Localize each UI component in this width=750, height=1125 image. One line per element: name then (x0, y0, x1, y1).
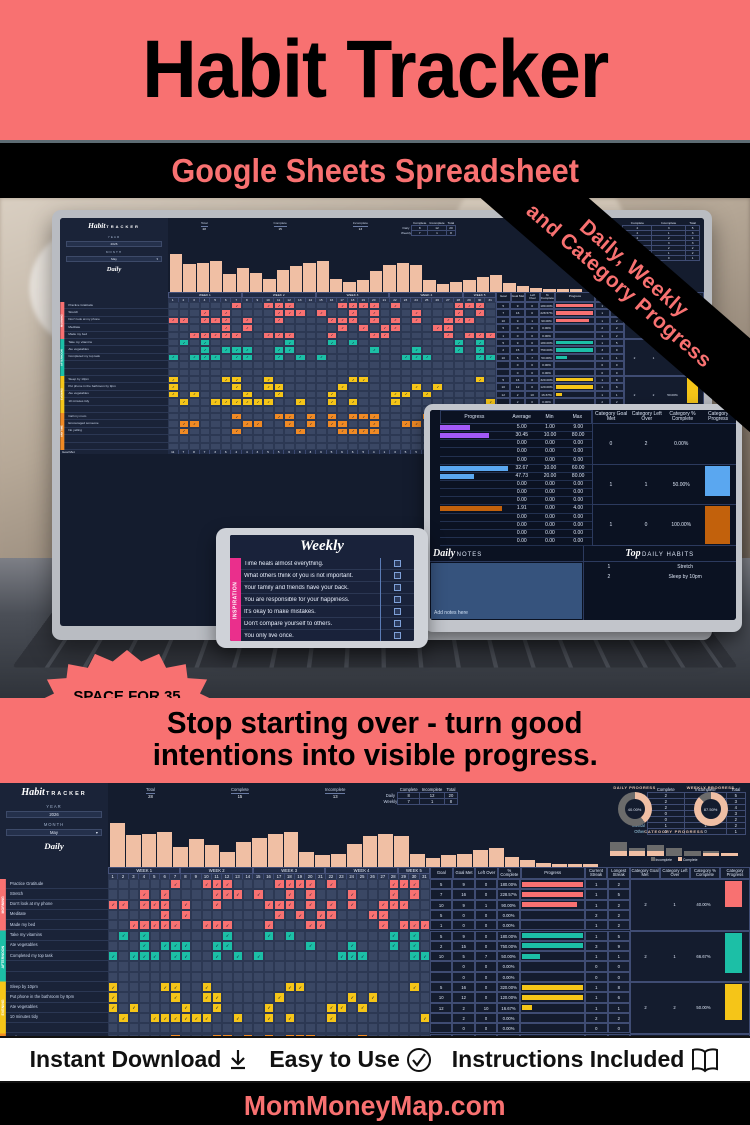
habit-checkbox[interactable] (357, 982, 367, 992)
habit-checkbox[interactable] (326, 900, 336, 910)
habit-checkbox[interactable] (242, 413, 253, 420)
habit-checkbox[interactable] (357, 1013, 367, 1023)
habit-checkbox[interactable] (242, 346, 253, 353)
habit-checkbox[interactable] (432, 302, 443, 309)
habit-checkbox[interactable] (368, 992, 378, 1002)
habit-checkbox[interactable] (108, 900, 118, 910)
habit-checkbox[interactable] (443, 339, 454, 346)
habit-checkbox[interactable] (170, 972, 180, 982)
habit-checkbox[interactable] (285, 951, 295, 961)
habit-checkbox[interactable] (242, 302, 253, 309)
habit-checkbox[interactable] (420, 920, 430, 930)
habit-checkbox[interactable] (357, 951, 367, 961)
habit-checkbox[interactable] (369, 324, 380, 331)
habit-checkbox[interactable] (369, 435, 380, 442)
habit-checkbox[interactable] (316, 443, 327, 450)
habit-checkbox[interactable] (243, 1034, 253, 1037)
habit-checkbox[interactable] (233, 1003, 243, 1013)
habit-checkbox[interactable] (411, 406, 422, 413)
habit-checkbox[interactable] (263, 324, 274, 331)
habit-checkbox[interactable] (337, 941, 347, 951)
habit-checkbox[interactable] (316, 1003, 326, 1013)
habit-checkbox[interactable] (129, 982, 139, 992)
habit-checkbox[interactable] (378, 941, 388, 951)
habit-checkbox[interactable] (485, 376, 496, 383)
habit-checkbox[interactable] (274, 941, 284, 951)
habit-checkbox[interactable] (242, 317, 253, 324)
habit-checkbox[interactable] (295, 324, 306, 331)
habit-checkbox[interactable] (170, 900, 180, 910)
habit-checkbox[interactable] (347, 951, 357, 961)
habit-checkbox[interactable] (390, 302, 401, 309)
habit-checkbox[interactable] (263, 354, 274, 361)
habit-checkbox[interactable] (401, 317, 412, 324)
habit-checkbox[interactable] (399, 900, 409, 910)
habit-checkbox[interactable] (231, 413, 242, 420)
habit-checkbox[interactable] (454, 383, 465, 390)
habit-checkbox[interactable] (316, 972, 326, 982)
habit-checkbox[interactable] (305, 992, 315, 1002)
habit-checkbox[interactable] (139, 982, 149, 992)
habit-checkbox[interactable] (357, 931, 367, 941)
habit-checkbox[interactable] (200, 406, 211, 413)
habit-checkbox[interactable] (181, 961, 191, 971)
habit-checkbox[interactable] (411, 339, 422, 346)
habit-checkbox[interactable] (118, 1013, 128, 1023)
habit-checkbox[interactable] (411, 332, 422, 339)
habit-checkbox[interactable] (253, 931, 263, 941)
habit-checkbox[interactable] (168, 443, 179, 450)
habit-checkbox[interactable] (348, 383, 359, 390)
habit-checkbox[interactable] (306, 435, 317, 442)
habit-checkbox[interactable] (212, 941, 222, 951)
habit-checkbox[interactable] (420, 982, 430, 992)
habit-checkbox[interactable] (306, 354, 317, 361)
habit-checkbox[interactable] (118, 879, 128, 889)
habit-checkbox[interactable] (231, 324, 242, 331)
habit-checkbox[interactable] (380, 324, 391, 331)
habit-checkbox[interactable] (263, 435, 274, 442)
habit-checkbox[interactable] (369, 309, 380, 316)
habit-checkbox[interactable] (369, 383, 380, 390)
habit-checkbox[interactable] (420, 1003, 430, 1013)
habit-checkbox[interactable] (485, 332, 496, 339)
habit-checkbox[interactable] (305, 1023, 315, 1033)
year-value[interactable]: 2026 (6, 811, 102, 818)
habit-checkbox[interactable] (401, 398, 412, 405)
habit-checkbox[interactable] (337, 1013, 347, 1023)
habit-checkbox[interactable] (168, 420, 179, 427)
habit-checkbox[interactable] (233, 900, 243, 910)
habit-checkbox[interactable] (118, 931, 128, 941)
habit-checkbox[interactable] (306, 391, 317, 398)
habit-checkbox[interactable] (160, 900, 170, 910)
habit-checkbox[interactable] (443, 324, 454, 331)
habit-checkbox[interactable] (168, 361, 179, 368)
habit-checkbox[interactable] (443, 354, 454, 361)
habit-checkbox[interactable] (326, 910, 336, 920)
habit-checkbox[interactable] (202, 920, 212, 930)
habit-checkbox[interactable] (108, 1003, 118, 1013)
habit-checkbox[interactable] (454, 369, 465, 376)
habit-checkbox[interactable] (129, 1003, 139, 1013)
habit-checkbox[interactable] (422, 309, 433, 316)
habit-checkbox[interactable] (337, 413, 348, 420)
habit-checkbox[interactable] (231, 420, 242, 427)
habit-checkbox[interactable] (358, 420, 369, 427)
habit-checkbox[interactable] (316, 1023, 326, 1033)
habit-checkbox[interactable] (306, 413, 317, 420)
habit-checkbox[interactable] (139, 889, 149, 899)
habit-checkbox[interactable] (378, 961, 388, 971)
habit-checkbox[interactable] (316, 982, 326, 992)
habit-checkbox[interactable] (389, 879, 399, 889)
habit-checkbox[interactable] (358, 406, 369, 413)
habit-checkbox[interactable] (150, 1003, 160, 1013)
habit-checkbox[interactable] (380, 309, 391, 316)
habit-checkbox[interactable] (409, 982, 419, 992)
habit-checkbox[interactable] (243, 992, 253, 1002)
habit-checkbox[interactable] (348, 443, 359, 450)
habit-checkbox[interactable] (202, 931, 212, 941)
habit-checkbox[interactable] (222, 910, 232, 920)
habit-checkbox[interactable] (337, 435, 348, 442)
habit-checkbox[interactable] (253, 406, 264, 413)
habit-checkbox[interactable] (202, 972, 212, 982)
weekly-checkbox[interactable] (394, 572, 401, 579)
habit-checkbox[interactable] (337, 339, 348, 346)
habit-checkbox[interactable] (316, 420, 327, 427)
habit-checkbox[interactable] (202, 889, 212, 899)
habit-checkbox[interactable] (357, 879, 367, 889)
habit-checkbox[interactable] (253, 302, 264, 309)
habit-checkbox[interactable] (168, 302, 179, 309)
habit-checkbox[interactable] (191, 1023, 201, 1033)
habit-checkbox[interactable] (242, 369, 253, 376)
habit-checkbox[interactable] (189, 391, 200, 398)
habit-checkbox[interactable] (253, 941, 263, 951)
habit-checkbox[interactable] (420, 992, 430, 1002)
habit-checkbox[interactable] (189, 398, 200, 405)
habit-checkbox[interactable] (420, 1023, 430, 1033)
habit-checkbox[interactable] (210, 302, 221, 309)
habit-checkbox[interactable] (401, 428, 412, 435)
habit-checkbox[interactable] (150, 982, 160, 992)
habit-checkbox[interactable] (316, 346, 327, 353)
habit-checkbox[interactable] (401, 346, 412, 353)
habit-checkbox[interactable] (212, 889, 222, 899)
habit-checkbox[interactable] (222, 1013, 232, 1023)
habit-checkbox[interactable] (305, 951, 315, 961)
habit-checkbox[interactable] (150, 889, 160, 899)
habit-checkbox[interactable] (139, 972, 149, 982)
habit-checkbox[interactable] (390, 435, 401, 442)
habit-checkbox[interactable] (443, 302, 454, 309)
habit-checkbox[interactable] (305, 1013, 315, 1023)
habit-checkbox[interactable] (253, 1003, 263, 1013)
habit-checkbox[interactable] (337, 302, 348, 309)
habit-checkbox[interactable] (263, 406, 274, 413)
habit-checkbox[interactable] (399, 951, 409, 961)
habit-checkbox[interactable] (390, 406, 401, 413)
habit-checkbox[interactable] (464, 302, 475, 309)
habit-checkbox[interactable] (422, 339, 433, 346)
habit-checkbox[interactable] (139, 941, 149, 951)
habit-checkbox[interactable] (337, 1003, 347, 1013)
habit-checkbox[interactable] (316, 900, 326, 910)
habit-checkbox[interactable] (389, 1023, 399, 1033)
habit-checkbox[interactable] (242, 309, 253, 316)
habit-checkbox[interactable] (264, 972, 274, 982)
habit-checkbox[interactable] (316, 317, 327, 324)
habit-checkbox[interactable] (181, 1023, 191, 1033)
habit-checkbox[interactable] (409, 900, 419, 910)
habit-checkbox[interactable] (264, 879, 274, 889)
habit-checkbox[interactable] (284, 435, 295, 442)
habit-checkbox[interactable] (316, 302, 327, 309)
habit-checkbox[interactable] (118, 1003, 128, 1013)
habit-checkbox[interactable] (200, 398, 211, 405)
habit-checkbox[interactable] (411, 383, 422, 390)
habit-checkbox[interactable] (422, 383, 433, 390)
habit-checkbox[interactable] (327, 406, 338, 413)
habit-checkbox[interactable] (316, 309, 327, 316)
habit-checkbox[interactable] (253, 435, 264, 442)
habit-checkbox[interactable] (253, 428, 264, 435)
habit-checkbox[interactable] (222, 972, 232, 982)
habit-checkbox[interactable] (306, 376, 317, 383)
habit-checkbox[interactable] (368, 1034, 378, 1037)
habit-checkbox[interactable] (357, 1023, 367, 1033)
habit-checkbox[interactable] (316, 369, 327, 376)
habit-checkbox[interactable] (358, 383, 369, 390)
habit-checkbox[interactable] (358, 391, 369, 398)
habit-checkbox[interactable] (337, 879, 347, 889)
habit-checkbox[interactable] (210, 376, 221, 383)
habit-checkbox[interactable] (243, 982, 253, 992)
habit-checkbox[interactable] (380, 376, 391, 383)
habit-checkbox[interactable] (401, 413, 412, 420)
habit-checkbox[interactable] (253, 332, 264, 339)
habit-checkbox[interactable] (150, 900, 160, 910)
habit-checkbox[interactable] (378, 1013, 388, 1023)
habit-checkbox[interactable] (243, 961, 253, 971)
habit-checkbox[interactable] (348, 435, 359, 442)
habit-checkbox[interactable] (243, 951, 253, 961)
habit-checkbox[interactable] (179, 383, 190, 390)
habit-checkbox[interactable] (263, 413, 274, 420)
habit-checkbox[interactable] (380, 398, 391, 405)
habit-checkbox[interactable] (390, 391, 401, 398)
habit-checkbox[interactable] (221, 339, 232, 346)
habit-checkbox[interactable] (389, 900, 399, 910)
habit-checkbox[interactable] (454, 361, 465, 368)
habit-checkbox[interactable] (191, 951, 201, 961)
habit-checkbox[interactable] (411, 376, 422, 383)
habit-checkbox[interactable] (347, 889, 357, 899)
habit-checkbox[interactable] (380, 383, 391, 390)
habit-checkbox[interactable] (274, 1023, 284, 1033)
habit-checkbox[interactable] (191, 961, 201, 971)
habit-checkbox[interactable] (409, 972, 419, 982)
habit-checkbox[interactable] (181, 1034, 191, 1037)
habit-checkbox[interactable] (150, 910, 160, 920)
weekly-checkbox[interactable] (394, 620, 401, 627)
habit-checkbox[interactable] (189, 428, 200, 435)
habit-checkbox[interactable] (274, 931, 284, 941)
habit-checkbox[interactable] (200, 420, 211, 427)
habit-checkbox[interactable] (475, 324, 486, 331)
habit-checkbox[interactable] (264, 1023, 274, 1033)
habit-checkbox[interactable] (179, 420, 190, 427)
habit-checkbox[interactable] (485, 383, 496, 390)
habit-checkbox[interactable] (200, 324, 211, 331)
habit-checkbox[interactable] (210, 354, 221, 361)
habit-checkbox[interactable] (295, 951, 305, 961)
habit-checkbox[interactable] (285, 900, 295, 910)
habit-checkbox[interactable] (411, 443, 422, 450)
habit-checkbox[interactable] (475, 383, 486, 390)
habit-checkbox[interactable] (401, 443, 412, 450)
habit-checkbox[interactable] (202, 1034, 212, 1037)
habit-checkbox[interactable] (118, 910, 128, 920)
habit-checkbox[interactable] (191, 1003, 201, 1013)
habit-checkbox[interactable] (285, 972, 295, 982)
habit-checkbox[interactable] (348, 376, 359, 383)
habit-checkbox[interactable] (139, 1034, 149, 1037)
habit-checkbox[interactable] (108, 1034, 118, 1037)
habit-checkbox[interactable] (263, 317, 274, 324)
habit-checkbox[interactable] (181, 889, 191, 899)
habit-checkbox[interactable] (108, 972, 118, 982)
habit-checkbox[interactable] (326, 961, 336, 971)
habit-checkbox[interactable] (368, 951, 378, 961)
habit-checkbox[interactable] (181, 1003, 191, 1013)
habit-checkbox[interactable] (327, 361, 338, 368)
habit-checkbox[interactable] (274, 339, 285, 346)
habit-checkbox[interactable] (253, 992, 263, 1002)
habit-checkbox[interactable] (316, 435, 327, 442)
habit-checkbox[interactable] (305, 972, 315, 982)
habit-checkbox[interactable] (380, 354, 391, 361)
habit-checkbox[interactable] (160, 1023, 170, 1033)
habit-checkbox[interactable] (422, 376, 433, 383)
habit-checkbox[interactable] (348, 413, 359, 420)
habit-checkbox[interactable] (368, 900, 378, 910)
habit-checkbox[interactable] (422, 302, 433, 309)
habit-checkbox[interactable] (369, 317, 380, 324)
habit-checkbox[interactable] (401, 376, 412, 383)
habit-checkbox[interactable] (432, 317, 443, 324)
habit-checkbox[interactable] (221, 309, 232, 316)
habit-checkbox[interactable] (253, 376, 264, 383)
habit-checkbox[interactable] (390, 346, 401, 353)
habit-checkbox[interactable] (231, 332, 242, 339)
habit-checkbox[interactable] (168, 406, 179, 413)
habit-checkbox[interactable] (274, 992, 284, 1002)
habit-checkbox[interactable] (284, 398, 295, 405)
habit-checkbox[interactable] (368, 910, 378, 920)
habit-checkbox[interactable] (253, 879, 263, 889)
habit-checkbox[interactable] (233, 951, 243, 961)
habit-checkbox[interactable] (305, 920, 315, 930)
habit-checkbox[interactable] (380, 346, 391, 353)
habit-checkbox[interactable] (295, 920, 305, 930)
habit-checkbox[interactable] (368, 972, 378, 982)
habit-checkbox[interactable] (212, 1003, 222, 1013)
habit-checkbox[interactable] (168, 317, 179, 324)
habit-checkbox[interactable] (306, 317, 317, 324)
habit-checkbox[interactable] (160, 1013, 170, 1023)
habit-checkbox[interactable] (181, 992, 191, 1002)
habit-checkbox[interactable] (337, 398, 348, 405)
habit-checkbox[interactable] (284, 391, 295, 398)
habit-checkbox[interactable] (337, 443, 348, 450)
habit-checkbox[interactable] (200, 443, 211, 450)
habit-checkbox[interactable] (369, 376, 380, 383)
habit-checkbox[interactable] (221, 317, 232, 324)
habit-checkbox[interactable] (401, 361, 412, 368)
habit-checkbox[interactable] (411, 420, 422, 427)
habit-checkbox[interactable] (401, 420, 412, 427)
habit-checkbox[interactable] (253, 443, 264, 450)
habit-checkbox[interactable] (443, 332, 454, 339)
habit-checkbox[interactable] (285, 941, 295, 951)
habit-checkbox[interactable] (357, 900, 367, 910)
habit-checkbox[interactable] (399, 941, 409, 951)
habit-checkbox[interactable] (316, 361, 327, 368)
habit-checkbox[interactable] (274, 889, 284, 899)
habit-checkbox[interactable] (118, 961, 128, 971)
habit-checkbox[interactable] (316, 413, 327, 420)
habit-checkbox[interactable] (420, 1013, 430, 1023)
habit-checkbox[interactable] (454, 391, 465, 398)
habit-checkbox[interactable] (316, 324, 327, 331)
habit-checkbox[interactable] (284, 332, 295, 339)
habit-checkbox[interactable] (411, 435, 422, 442)
habit-checkbox[interactable] (337, 361, 348, 368)
habit-checkbox[interactable] (118, 982, 128, 992)
habit-checkbox[interactable] (390, 339, 401, 346)
habit-checkbox[interactable] (369, 420, 380, 427)
habit-checkbox[interactable] (284, 420, 295, 427)
habit-checkbox[interactable] (139, 1023, 149, 1033)
habit-checkbox[interactable] (347, 941, 357, 951)
habit-checkbox[interactable] (390, 420, 401, 427)
habit-checkbox[interactable] (411, 309, 422, 316)
habit-checkbox[interactable] (475, 317, 486, 324)
habit-checkbox[interactable] (378, 910, 388, 920)
habit-checkbox[interactable] (347, 920, 357, 930)
habit-checkbox[interactable] (409, 1034, 419, 1037)
habit-checkbox[interactable] (347, 931, 357, 941)
habit-checkbox[interactable] (243, 900, 253, 910)
habit-checkbox[interactable] (409, 879, 419, 889)
habit-checkbox[interactable] (189, 324, 200, 331)
habit-checkbox[interactable] (274, 879, 284, 889)
habit-checkbox[interactable] (170, 992, 180, 1002)
habit-checkbox[interactable] (399, 992, 409, 1002)
habit-checkbox[interactable] (212, 1034, 222, 1037)
habit-checkbox[interactable] (357, 910, 367, 920)
habit-checkbox[interactable] (401, 309, 412, 316)
habit-checkbox[interactable] (210, 443, 221, 450)
habit-checkbox[interactable] (202, 951, 212, 961)
habit-checkbox[interactable] (263, 383, 274, 390)
habit-checkbox[interactable] (243, 1023, 253, 1033)
habit-checkbox[interactable] (443, 309, 454, 316)
habit-checkbox[interactable] (274, 951, 284, 961)
